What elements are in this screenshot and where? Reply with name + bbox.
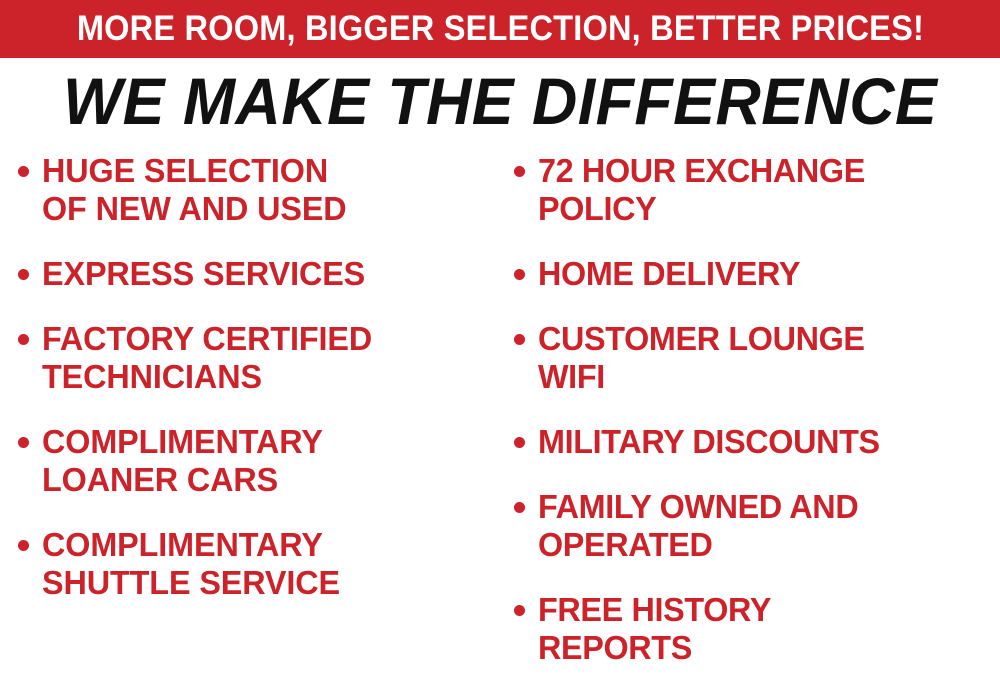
list-item: 72 HOUR EXCHANGE POLICY	[514, 152, 1000, 228]
benefits-column-right: 72 HOUR EXCHANGE POLICY HOME DELIVERY CU…	[500, 152, 1000, 694]
list-item: FACTORY CERTIFIED TECHNICIANS	[18, 320, 496, 396]
benefit-label: CUSTOMER LOUNGE WIFI	[538, 320, 991, 396]
headline: WE MAKE THE DIFFERENCE	[0, 66, 1000, 136]
list-item: COMPLIMENTARY SHUTTLE SERVICE	[18, 526, 496, 602]
list-item: FAMILY OWNED AND OPERATED	[514, 488, 1000, 564]
bullet-dot-icon	[18, 269, 29, 280]
bullet-dot-icon	[514, 502, 525, 513]
bullet-dot-icon	[514, 269, 525, 280]
benefits-columns: HUGE SELECTION OF NEW AND USED EXPRESS S…	[0, 152, 1000, 694]
benefit-label: HOME DELIVERY	[538, 255, 991, 293]
bullet-dot-icon	[514, 605, 525, 616]
benefit-label: HUGE SELECTION OF NEW AND USED	[42, 152, 487, 228]
bullet-dot-icon	[18, 166, 29, 177]
benefit-label: 72 HOUR EXCHANGE POLICY	[538, 152, 991, 228]
benefits-column-left: HUGE SELECTION OF NEW AND USED EXPRESS S…	[0, 152, 500, 694]
list-item: FREE HISTORY REPORTS	[514, 591, 1000, 667]
headline-text: WE MAKE THE DIFFERENCE	[63, 66, 937, 136]
promo-banner-text: MORE ROOM, BIGGER SELECTION, BETTER PRIC…	[76, 11, 923, 47]
benefits-list-right: 72 HOUR EXCHANGE POLICY HOME DELIVERY CU…	[514, 152, 1000, 667]
benefit-label: FACTORY CERTIFIED TECHNICIANS	[42, 320, 487, 396]
promo-banner: MORE ROOM, BIGGER SELECTION, BETTER PRIC…	[0, 0, 1000, 58]
benefit-label: FAMILY OWNED AND OPERATED	[538, 488, 991, 564]
benefit-label: MILITARY DISCOUNTS	[538, 423, 991, 461]
bullet-dot-icon	[514, 166, 525, 177]
bullet-dot-icon	[18, 437, 29, 448]
benefit-label: COMPLIMENTARY LOANER CARS	[42, 423, 487, 499]
list-item: CUSTOMER LOUNGE WIFI	[514, 320, 1000, 396]
list-item: COMPLIMENTARY LOANER CARS	[18, 423, 496, 499]
list-item: EXPRESS SERVICES	[18, 255, 496, 293]
bullet-dot-icon	[514, 437, 525, 448]
benefit-label: COMPLIMENTARY SHUTTLE SERVICE	[42, 526, 487, 602]
advertisement-banner: MORE ROOM, BIGGER SELECTION, BETTER PRIC…	[0, 0, 1000, 694]
bullet-dot-icon	[514, 334, 525, 345]
benefits-list-left: HUGE SELECTION OF NEW AND USED EXPRESS S…	[18, 152, 496, 602]
list-item: HOME DELIVERY	[514, 255, 1000, 293]
list-item: MILITARY DISCOUNTS	[514, 423, 1000, 461]
benefit-label: FREE HISTORY REPORTS	[538, 591, 991, 667]
bullet-dot-icon	[18, 540, 29, 551]
list-item: HUGE SELECTION OF NEW AND USED	[18, 152, 496, 228]
bullet-dot-icon	[18, 334, 29, 345]
benefit-label: EXPRESS SERVICES	[42, 255, 487, 293]
